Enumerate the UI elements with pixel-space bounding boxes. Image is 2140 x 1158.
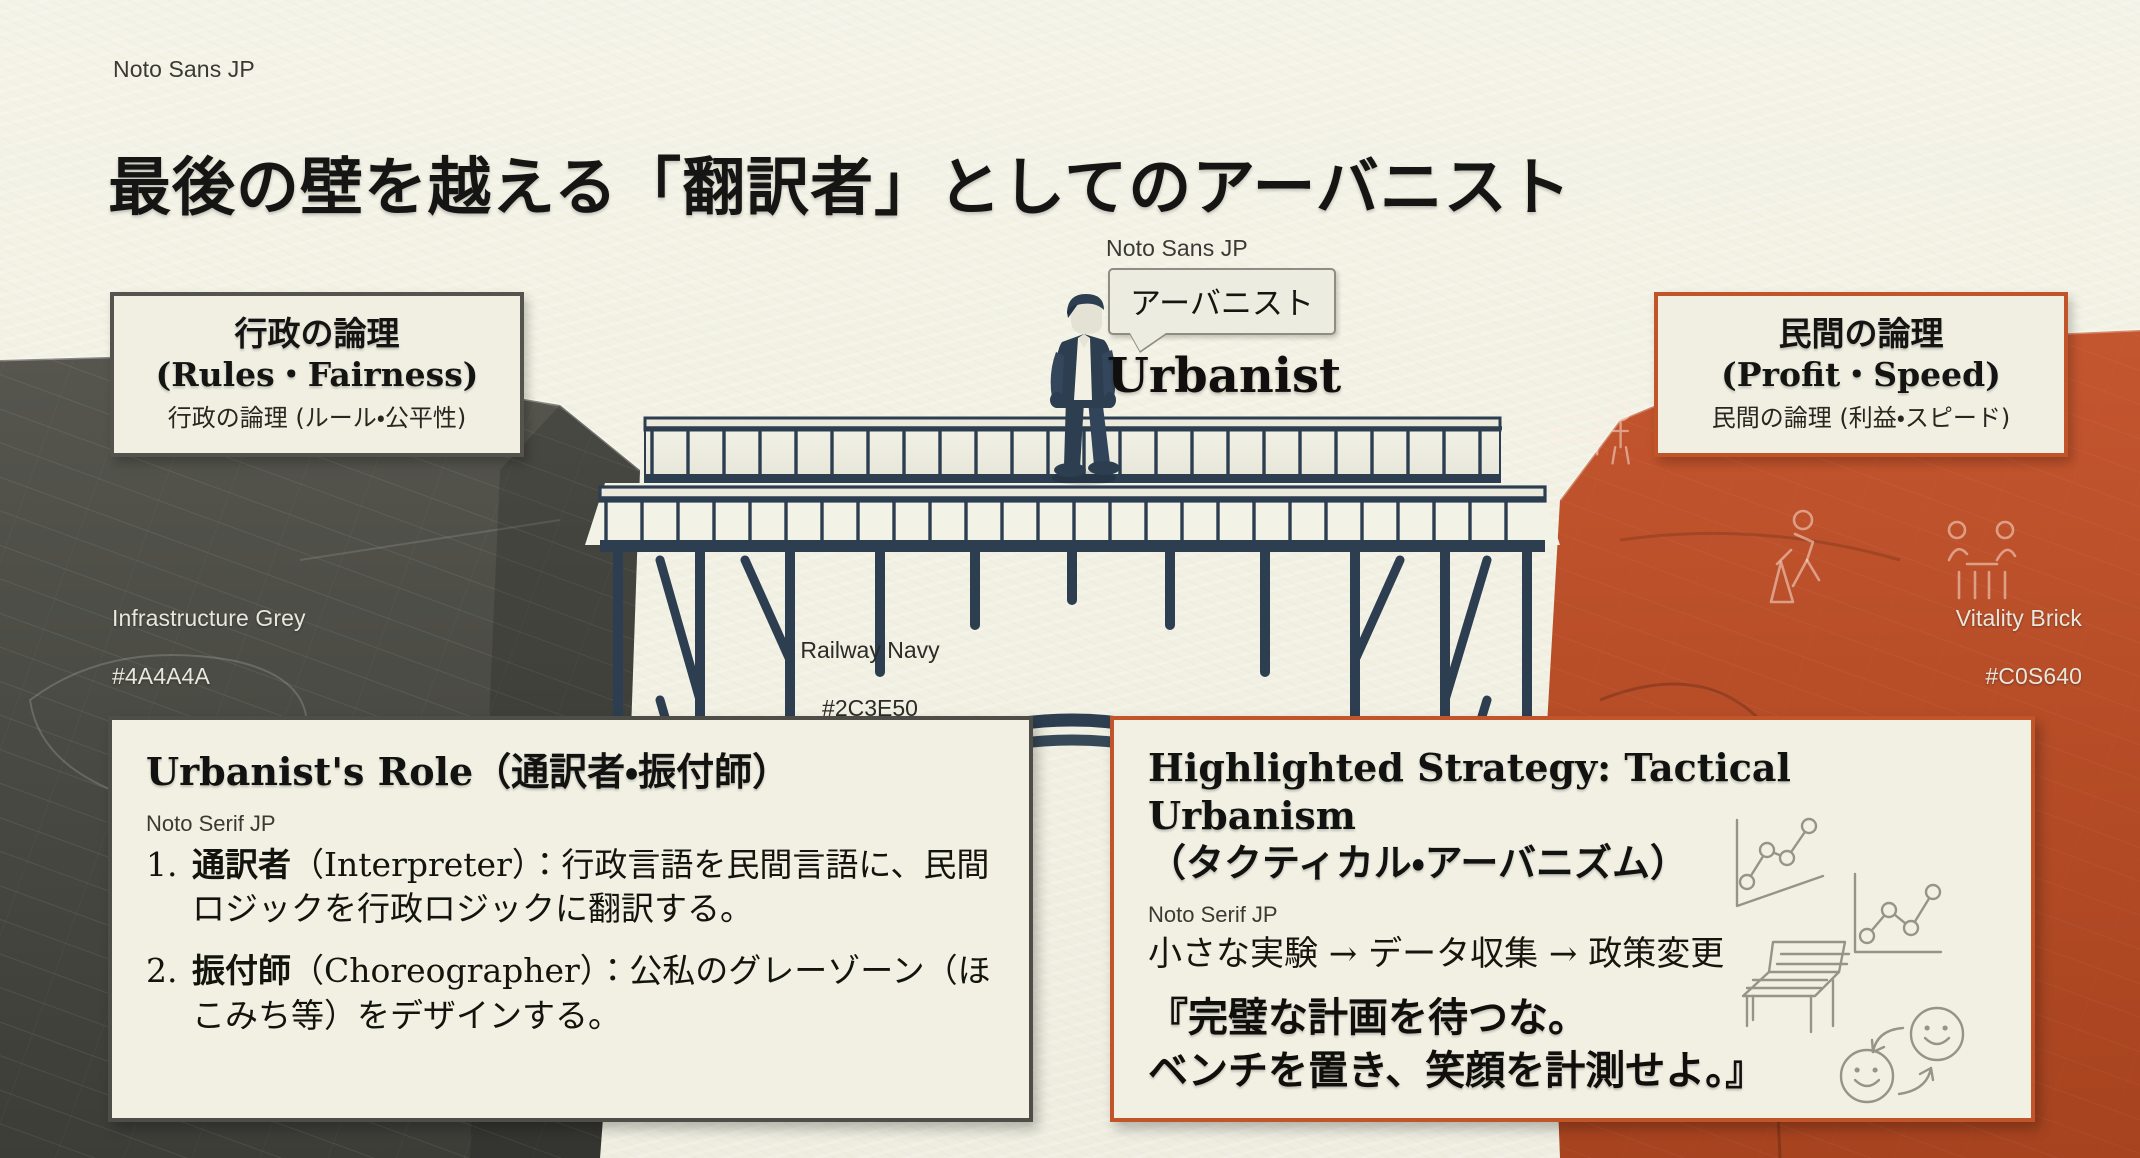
font-tag-role: Noto Serif JP xyxy=(146,811,995,837)
panel-private-title: 民間の論理 (Profit・Speed) xyxy=(1682,314,2040,396)
urbanist-label: Urbanist xyxy=(1107,348,1341,404)
card-tactical-heading-en: Highlighted Strategy: Tactical Urbanism xyxy=(1148,744,1997,840)
speech-bubble-text: アーバニスト xyxy=(1130,286,1314,322)
card-tactical-heading-ja: （タクティカル・アーバニズム） xyxy=(1148,840,1997,888)
panel-government-logic: 行政の論理 (Rules・Fairness) 行政の論理 (ルール・公平性) xyxy=(110,292,524,457)
role-item-lead: 通訳者 xyxy=(192,845,291,884)
page-title: 最後の壁を越える「翻訳者」としてのアーバニスト xyxy=(108,137,1572,228)
panel-government-title-en: (Rules・Fairness) xyxy=(138,355,496,396)
font-tag-title: Noto Sans JP xyxy=(113,56,255,83)
slide-canvas: Noto Sans JP 最後の壁を越える「翻訳者」としてのアーバニスト 行政の… xyxy=(0,0,2140,1158)
speech-bubble: アーバニスト xyxy=(1108,268,1336,335)
role-list-item: 振付師（Choreographer）：公私のグレーゾーン（ほこみち等）をデザイン… xyxy=(146,949,995,1037)
card-role-heading-ja: （通訳者・振付師） xyxy=(473,750,790,794)
panel-private-subtitle: 民間の論理 (利益・スピード) xyxy=(1682,404,2040,433)
role-item-rest: （Choreographer）：公私のグレーゾーン（ほこみち等）をデザインする。 xyxy=(192,951,991,1034)
panel-government-subtitle: 行政の論理 (ルール・公平性) xyxy=(138,404,496,433)
panel-private-logic: 民間の論理 (Profit・Speed) 民間の論理 (利益・スピード) xyxy=(1654,292,2068,457)
font-tag-bubble: Noto Sans JP xyxy=(1106,235,1248,262)
panel-private-title-en: (Profit・Speed) xyxy=(1682,355,2040,396)
color-label-navy-name: Railway Navy xyxy=(800,636,939,665)
card-role-heading: Urbanist's Role（通訳者・振付師） xyxy=(146,748,995,797)
panel-government-title-ja: 行政の論理 xyxy=(138,314,496,355)
tactical-flow: 小さな実験 → データ収集 → 政策変更 xyxy=(1148,932,1997,976)
card-urbanist-role: Urbanist's Role（通訳者・振付師） Noto Serif JP 通… xyxy=(108,716,1033,1122)
role-item-rest: （Interpreter）：行政言語を民間言語に、民間ロジックを行政ロジックに翻… xyxy=(192,845,989,928)
card-tactical-heading: Highlighted Strategy: Tactical Urbanism … xyxy=(1148,744,1997,888)
panel-government-title: 行政の論理 (Rules・Fairness) xyxy=(138,314,496,396)
role-item-lead: 振付師 xyxy=(192,951,291,990)
role-list-item: 通訳者（Interpreter）：行政言語を民間言語に、民間ロジックを行政ロジッ… xyxy=(146,843,995,931)
role-list: 通訳者（Interpreter）：行政言語を民間言語に、民間ロジックを行政ロジッ… xyxy=(146,843,995,1038)
font-tag-tactical: Noto Serif JP xyxy=(1148,902,1997,928)
card-role-heading-en: Urbanist's Role xyxy=(146,749,473,794)
panel-private-title-ja: 民間の論理 xyxy=(1682,314,2040,355)
tactical-quote: 『完璧な計画を待つな。 ベンチを置き、笑顔を計測せよ。』 xyxy=(1148,992,1997,1099)
card-tactical-urbanism: Highlighted Strategy: Tactical Urbanism … xyxy=(1110,716,2035,1122)
